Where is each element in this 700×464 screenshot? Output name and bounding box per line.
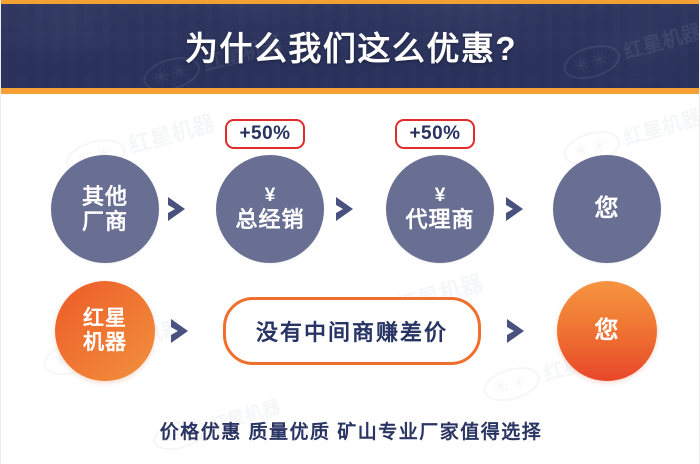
- no-middleman-pill: 没有中间商赚差价: [223, 297, 481, 365]
- markup-badge-1: +50%: [225, 119, 305, 149]
- yen-sign-icon: ¥: [435, 186, 446, 205]
- markup-badge-label: +50%: [409, 123, 460, 145]
- no-middleman-label: 没有中间商赚差价: [256, 315, 448, 347]
- chevron-right-icon-4: [169, 316, 195, 346]
- node-label-line1: 总经销: [235, 207, 304, 232]
- yen-sign-icon: ¥: [265, 186, 276, 205]
- node-you-direct: 您: [557, 281, 657, 381]
- node-agent: ¥ 代理商: [386, 155, 494, 263]
- chevron-right-icon-1: [166, 194, 192, 224]
- markup-badge-2: +50%: [395, 119, 475, 149]
- brand-label-line2: 机器: [83, 331, 127, 355]
- node-hongxing-brand: 红星 机器: [55, 281, 155, 381]
- node-general-distributor: ¥ 总经销: [216, 155, 324, 263]
- markup-badge-label: +50%: [239, 123, 290, 145]
- header-banner: ✳✳红星机器 ✳✳红星机器 为什么我们这么优惠?: [1, 0, 700, 94]
- header-bottom-accent-bar: [1, 88, 700, 94]
- node-label-line1: 其他: [82, 184, 128, 209]
- promo-infographic: ✳✳红星机器 ✳✳红星机器 为什么我们这么优惠? ✳✳红星机器 ✳✳红星机器 ✳…: [0, 0, 700, 464]
- node-label-line2: 厂商: [82, 209, 128, 234]
- node-other-maker: 其他 厂商: [51, 155, 159, 263]
- chevron-right-icon-5: [505, 316, 531, 346]
- flow-row-distribution-chain: +50% +50% 其他 厂商 ¥ 总经销 ¥: [1, 110, 700, 265]
- node-label-line1: 代理商: [405, 207, 474, 232]
- footer-tagline: 价格优惠 质量优质 矿山专业厂家值得选择: [1, 412, 700, 448]
- node-label-line1: 您: [595, 317, 620, 344]
- node-you: 您: [553, 155, 661, 263]
- flow-row-direct-chain: 红星 机器 没有中间商赚差价 您: [1, 272, 700, 390]
- chevron-right-icon-3: [504, 194, 530, 224]
- brand-label-line1: 红星: [83, 307, 127, 331]
- header-image-band: ✳✳红星机器 ✳✳红星机器 为什么我们这么优惠?: [1, 4, 700, 88]
- chevron-right-icon-2: [334, 194, 360, 224]
- node-label-line1: 您: [595, 195, 620, 222]
- page-title: 为什么我们这么优惠?: [1, 4, 700, 88]
